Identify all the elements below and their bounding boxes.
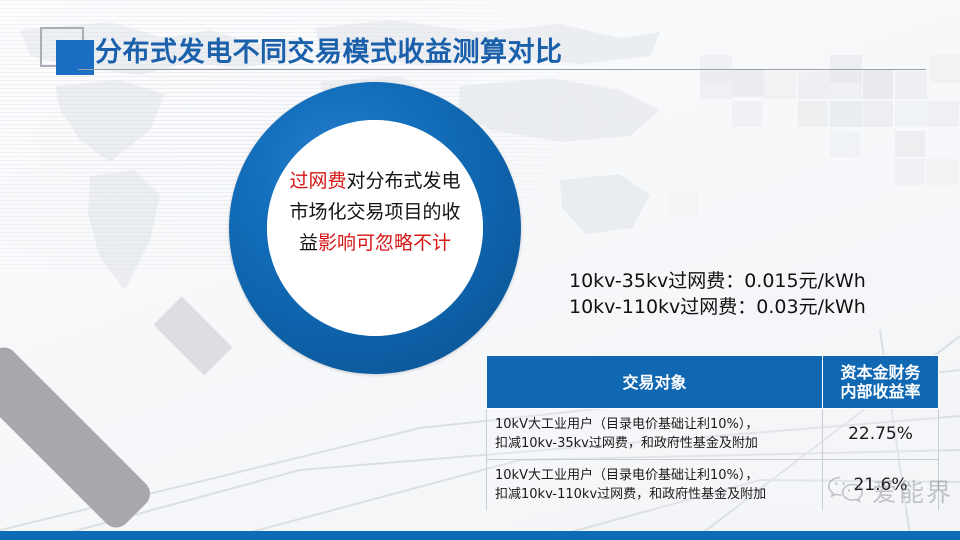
- table-row: 10kV大工业用户（目录电价基础让利10%）， 扣减10kv-110kv过网费，…: [487, 460, 939, 511]
- magnifier-neck-icon: [153, 296, 232, 375]
- callout-line-1-plain: 对分布式发电: [347, 170, 461, 192]
- cell-trade-object-line1: 10kV大工业用户（目录电价基础让利10%），: [495, 468, 758, 483]
- table-row: 10kV大工业用户（目录电价基础让利10%）， 扣减10kv-35kv过网费，和…: [487, 409, 939, 460]
- cell-trade-object: 10kV大工业用户（目录电价基础让利10%）， 扣减10kv-35kv过网费，和…: [487, 409, 823, 460]
- column-header-irr-line1: 资本金财务: [840, 363, 920, 382]
- magnifier-callout-text: 过网费对分布式发电 市场化交易项目的收 益影响可忽略不计: [259, 166, 491, 259]
- cell-trade-object-line2: 扣减10kv-35kv过网费，和政府性基金及附加: [495, 436, 758, 451]
- title-underline-divider: [78, 69, 926, 70]
- returns-comparison-table: 交易对象 资本金财务 内部收益率 10kV大工业用户（目录电价基础让利10%），…: [486, 355, 939, 510]
- checker-squares-background: [600, 55, 960, 295]
- cell-trade-object-line2: 扣减10kv-110kv过网费，和政府性基金及附加: [495, 487, 766, 502]
- column-header-irr: 资本金财务 内部收益率: [823, 356, 939, 409]
- magnifier-handle-icon: [0, 342, 156, 534]
- magnifier-icon: 过网费对分布式发电 市场化交易项目的收 益影响可忽略不计: [229, 82, 521, 374]
- callout-line-2: 市场化交易项目的收: [259, 197, 491, 228]
- cell-trade-object-line1: 10kV大工业用户（目录电价基础让利10%），: [495, 417, 758, 432]
- callout-line-1: 过网费对分布式发电: [259, 166, 491, 197]
- callout-line-3-highlight: 影响可忽略不计: [318, 232, 451, 254]
- page-title: 分布式发电不同交易模式收益测算对比: [95, 30, 563, 69]
- footer-accent-bar: [0, 531, 960, 540]
- table-header-row: 交易对象 资本金财务 内部收益率: [487, 356, 939, 409]
- grid-fee-line-1: 10kv-35kv过网费：0.015元/kWh: [569, 268, 866, 294]
- cell-irr-value: 21.6%: [823, 460, 939, 511]
- callout-line-3-plain: 益: [299, 232, 318, 254]
- grid-fee-line-2: 10kv-110kv过网费：0.03元/kWh: [569, 294, 866, 320]
- callout-line-3: 益影响可忽略不计: [259, 228, 491, 259]
- callout-line-1-highlight: 过网费: [289, 170, 346, 192]
- column-header-trade-object: 交易对象: [487, 356, 823, 409]
- column-header-irr-line2: 内部收益率: [840, 382, 920, 401]
- magnifier-lens: 过网费对分布式发电 市场化交易项目的收 益影响可忽略不计: [267, 120, 483, 336]
- grid-fee-note: 10kv-35kv过网费：0.015元/kWh 10kv-110kv过网费：0.…: [569, 268, 866, 320]
- cell-irr-value: 22.75%: [823, 409, 939, 460]
- cell-trade-object: 10kV大工业用户（目录电价基础让利10%）， 扣减10kv-110kv过网费，…: [487, 460, 823, 511]
- slide-canvas: 分布式发电不同交易模式收益测算对比 过网费对分布式发电 市场化交易项目的收 益影…: [0, 0, 960, 540]
